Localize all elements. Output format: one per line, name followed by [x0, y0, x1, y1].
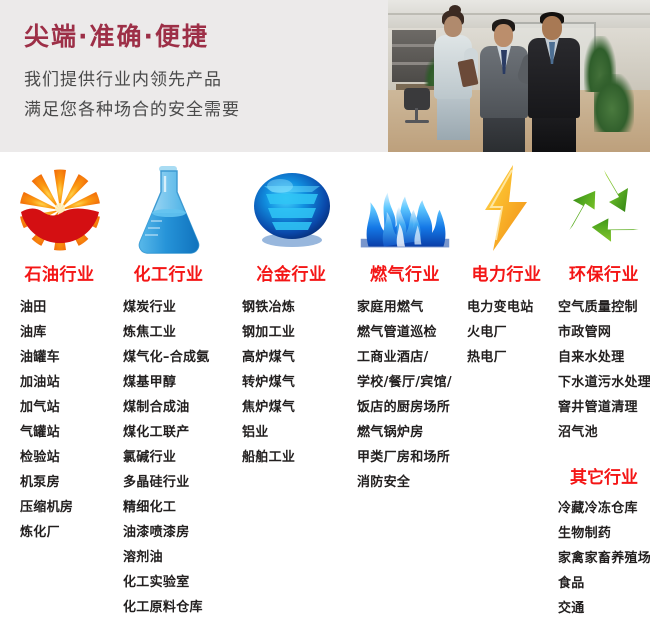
list-item[interactable]: 甲类厂房和场所: [355, 445, 455, 470]
list-item[interactable]: 煤制合成油: [115, 395, 222, 420]
list-item[interactable]: 化工实验室: [115, 570, 222, 595]
list-item[interactable]: 学校/餐厅/宾馆/: [355, 370, 455, 395]
industry-column-gas: 燃气行业 家庭用燃气 燃气管道巡检 工商业酒店/ 学校/餐厅/宾馆/ 饭店的厨房…: [345, 152, 455, 621]
column-heading: 燃气行业: [355, 260, 455, 285]
banner-title: 尖端·准确·便捷: [24, 22, 240, 52]
industry-column-petroleum: 石油行业 油田 油库 油罐车 加油站 加气站 气罐站 检验站 机泵房 压缩机房 …: [0, 152, 107, 621]
list-item[interactable]: 精细化工: [115, 495, 222, 520]
industry-item-list: 钢铁冶炼 钢加工业 高炉煤气 转炉煤气 焦炉煤气 铝业 船舶工业: [238, 295, 345, 470]
list-item[interactable]: 油库: [12, 320, 107, 345]
list-item[interactable]: 化工原料仓库: [115, 595, 222, 620]
list-item[interactable]: 空气质量控制: [558, 295, 650, 320]
column-subheading-other: 其它行业: [558, 463, 650, 488]
list-item[interactable]: 焦炉煤气: [238, 395, 345, 420]
list-item[interactable]: 冷藏冷冻仓库: [558, 496, 650, 521]
list-item[interactable]: 饭店的厨房场所: [355, 395, 455, 420]
industry-column-power: 电力行业 电力变电站 火电厂 热电厂: [455, 152, 548, 621]
list-item[interactable]: 钢铁冶炼: [238, 295, 345, 320]
list-item[interactable]: 煤炭行业: [115, 295, 222, 320]
metal-ingot-icon: [238, 160, 345, 256]
industry-item-list: 煤炭行业 炼焦工业 煤气化–合成氨 煤基甲醇 煤制合成油 煤化工联产 氯碱行业 …: [115, 295, 222, 620]
list-item[interactable]: 高炉煤气: [238, 345, 345, 370]
lightning-bolt-icon: [465, 160, 548, 256]
column-heading: 化工行业: [115, 260, 222, 285]
list-item[interactable]: 煤化工联产: [115, 420, 222, 445]
other-industry-item-list: 冷藏冷冻仓库 生物制药 家禽家畜养殖场 食品 交通: [558, 496, 650, 621]
list-item[interactable]: 工商业酒店/: [355, 345, 455, 370]
industry-column-environment: 环保行业 空气质量控制 市政管网 自来水处理 下水道污水处理 窨井管道清理 沼气…: [548, 152, 650, 621]
list-item[interactable]: 气罐站: [12, 420, 107, 445]
list-item[interactable]: 煤气化–合成氨: [115, 345, 222, 370]
industry-item-list: 家庭用燃气 燃气管道巡检 工商业酒店/ 学校/餐厅/宾馆/ 饭店的厨房场所 燃气…: [355, 295, 455, 495]
column-heading: 环保行业: [558, 260, 650, 285]
industry-item-list: 空气质量控制 市政管网 自来水处理 下水道污水处理 窨井管道清理 沼气池: [558, 295, 650, 445]
recycle-icon: [558, 160, 650, 256]
column-heading: 电力行业: [465, 260, 548, 285]
list-item[interactable]: 氯碱行业: [115, 445, 222, 470]
list-item[interactable]: 家禽家畜养殖场: [558, 546, 650, 571]
industry-grid: 石油行业 油田 油库 油罐车 加油站 加气站 气罐站 检验站 机泵房 压缩机房 …: [0, 152, 650, 621]
banner-subtitle-line-2: 满足您各种场合的安全需要: [24, 96, 240, 126]
list-item[interactable]: 铝业: [238, 420, 345, 445]
list-item[interactable]: 钢加工业: [238, 320, 345, 345]
industry-column-metallurgy: 冶金行业 钢铁冶炼 钢加工业 高炉煤气 转炉煤气 焦炉煤气 铝业 船舶工业: [222, 152, 345, 621]
list-item[interactable]: 船舶工业: [238, 445, 345, 470]
list-item[interactable]: 窨井管道清理: [558, 395, 650, 420]
list-item[interactable]: 燃气锅炉房: [355, 420, 455, 445]
petroleum-logo-icon: [12, 160, 107, 256]
list-item[interactable]: 消防安全: [355, 470, 455, 495]
business-meeting-photo: [388, 0, 650, 152]
header-banner: 尖端·准确·便捷 我们提供行业内领先产品 满足您各种场合的安全需要: [0, 0, 650, 152]
banner-text-block: 尖端·准确·便捷 我们提供行业内领先产品 满足您各种场合的安全需要: [24, 22, 240, 126]
list-item[interactable]: 油漆喷漆房: [115, 520, 222, 545]
list-item[interactable]: 生物制药: [558, 521, 650, 546]
list-item[interactable]: 下水道污水处理: [558, 370, 650, 395]
list-item[interactable]: 炼化厂: [12, 520, 107, 545]
banner-subtitle-line-1: 我们提供行业内领先产品: [24, 66, 240, 96]
list-item[interactable]: 油田: [12, 295, 107, 320]
list-item[interactable]: 沼气池: [558, 420, 650, 445]
list-item[interactable]: 燃气管道巡检: [355, 320, 455, 345]
list-item[interactable]: 火电厂: [465, 320, 548, 345]
list-item[interactable]: 加油站: [12, 370, 107, 395]
list-item[interactable]: 市政管网: [558, 320, 650, 345]
list-item[interactable]: 交通: [558, 596, 650, 621]
industry-column-chemical: 化工行业 煤炭行业 炼焦工业 煤气化–合成氨 煤基甲醇 煤制合成油 煤化工联产 …: [107, 152, 222, 621]
list-item[interactable]: 压缩机房: [12, 495, 107, 520]
list-item[interactable]: 转炉煤气: [238, 370, 345, 395]
list-item[interactable]: 食品: [558, 571, 650, 596]
blue-flame-icon: [355, 160, 455, 256]
list-item[interactable]: 机泵房: [12, 470, 107, 495]
list-item[interactable]: 家庭用燃气: [355, 295, 455, 320]
list-item[interactable]: 热电厂: [465, 345, 548, 370]
list-item[interactable]: 电力变电站: [465, 295, 548, 320]
industry-item-list: 电力变电站 火电厂 热电厂: [465, 295, 548, 370]
industry-item-list: 油田 油库 油罐车 加油站 加气站 气罐站 检验站 机泵房 压缩机房 炼化厂: [12, 295, 107, 545]
list-item[interactable]: 煤基甲醇: [115, 370, 222, 395]
list-item[interactable]: 自来水处理: [558, 345, 650, 370]
chemical-flask-icon: [115, 160, 222, 256]
column-heading: 冶金行业: [238, 260, 345, 285]
list-item[interactable]: 油罐车: [12, 345, 107, 370]
column-heading: 石油行业: [12, 260, 107, 285]
list-item[interactable]: 加气站: [12, 395, 107, 420]
page-root: 尖端·准确·便捷 我们提供行业内领先产品 满足您各种场合的安全需要: [0, 0, 650, 624]
list-item[interactable]: 多晶硅行业: [115, 470, 222, 495]
list-item[interactable]: 检验站: [12, 445, 107, 470]
list-item[interactable]: 炼焦工业: [115, 320, 222, 345]
list-item[interactable]: 溶剂油: [115, 545, 222, 570]
